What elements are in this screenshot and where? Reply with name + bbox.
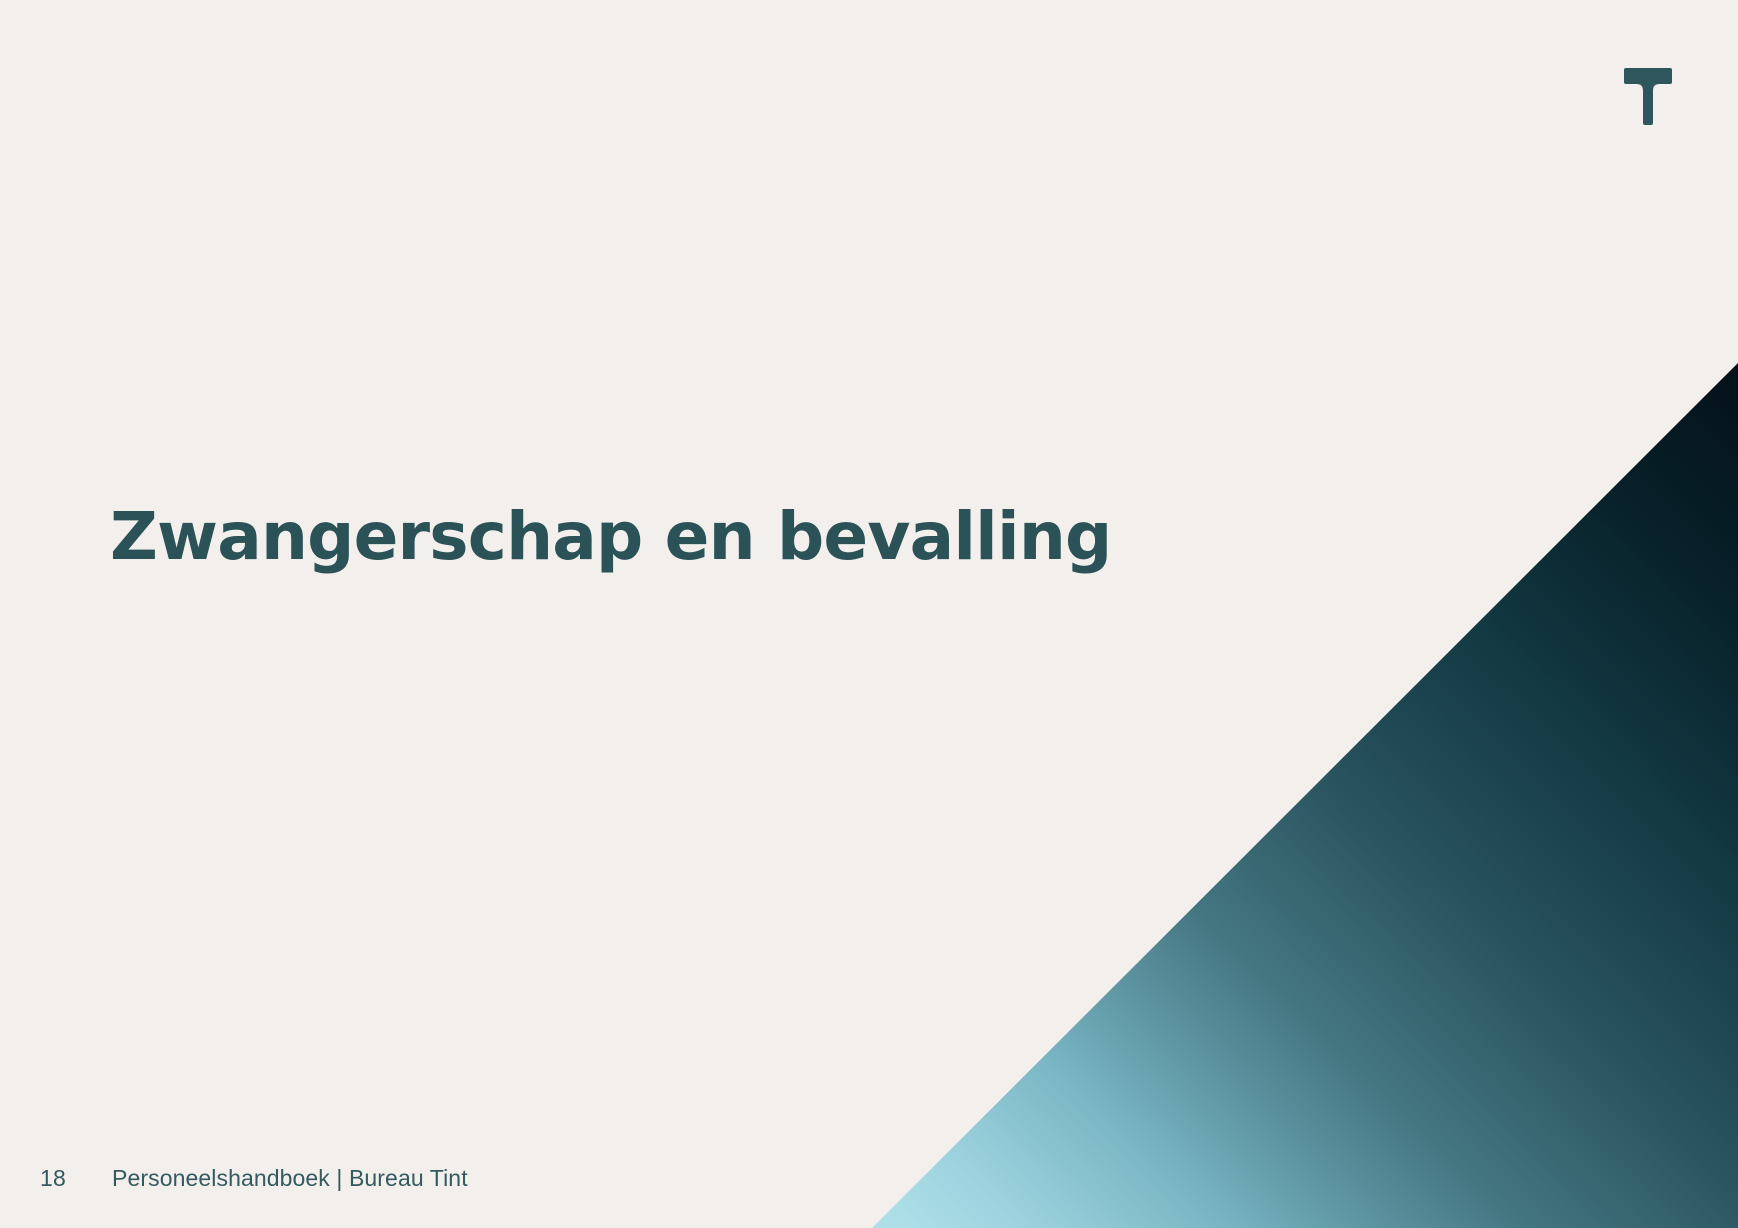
page-title: Zwangerschap en bevalling bbox=[110, 498, 1290, 576]
title-block: Zwangerschap en bevalling bbox=[110, 498, 1290, 576]
slide-canvas: Zwangerschap en bevalling 18 Personeelsh… bbox=[0, 0, 1738, 1228]
page-number: 18 bbox=[40, 1165, 112, 1192]
footer-document-label: Personeelshandboek | Bureau Tint bbox=[112, 1165, 468, 1192]
footer: 18 Personeelshandboek | Bureau Tint bbox=[40, 1165, 468, 1192]
bureau-tint-logo-icon bbox=[1622, 66, 1674, 128]
corner-gradient-triangle bbox=[0, 0, 1738, 1228]
